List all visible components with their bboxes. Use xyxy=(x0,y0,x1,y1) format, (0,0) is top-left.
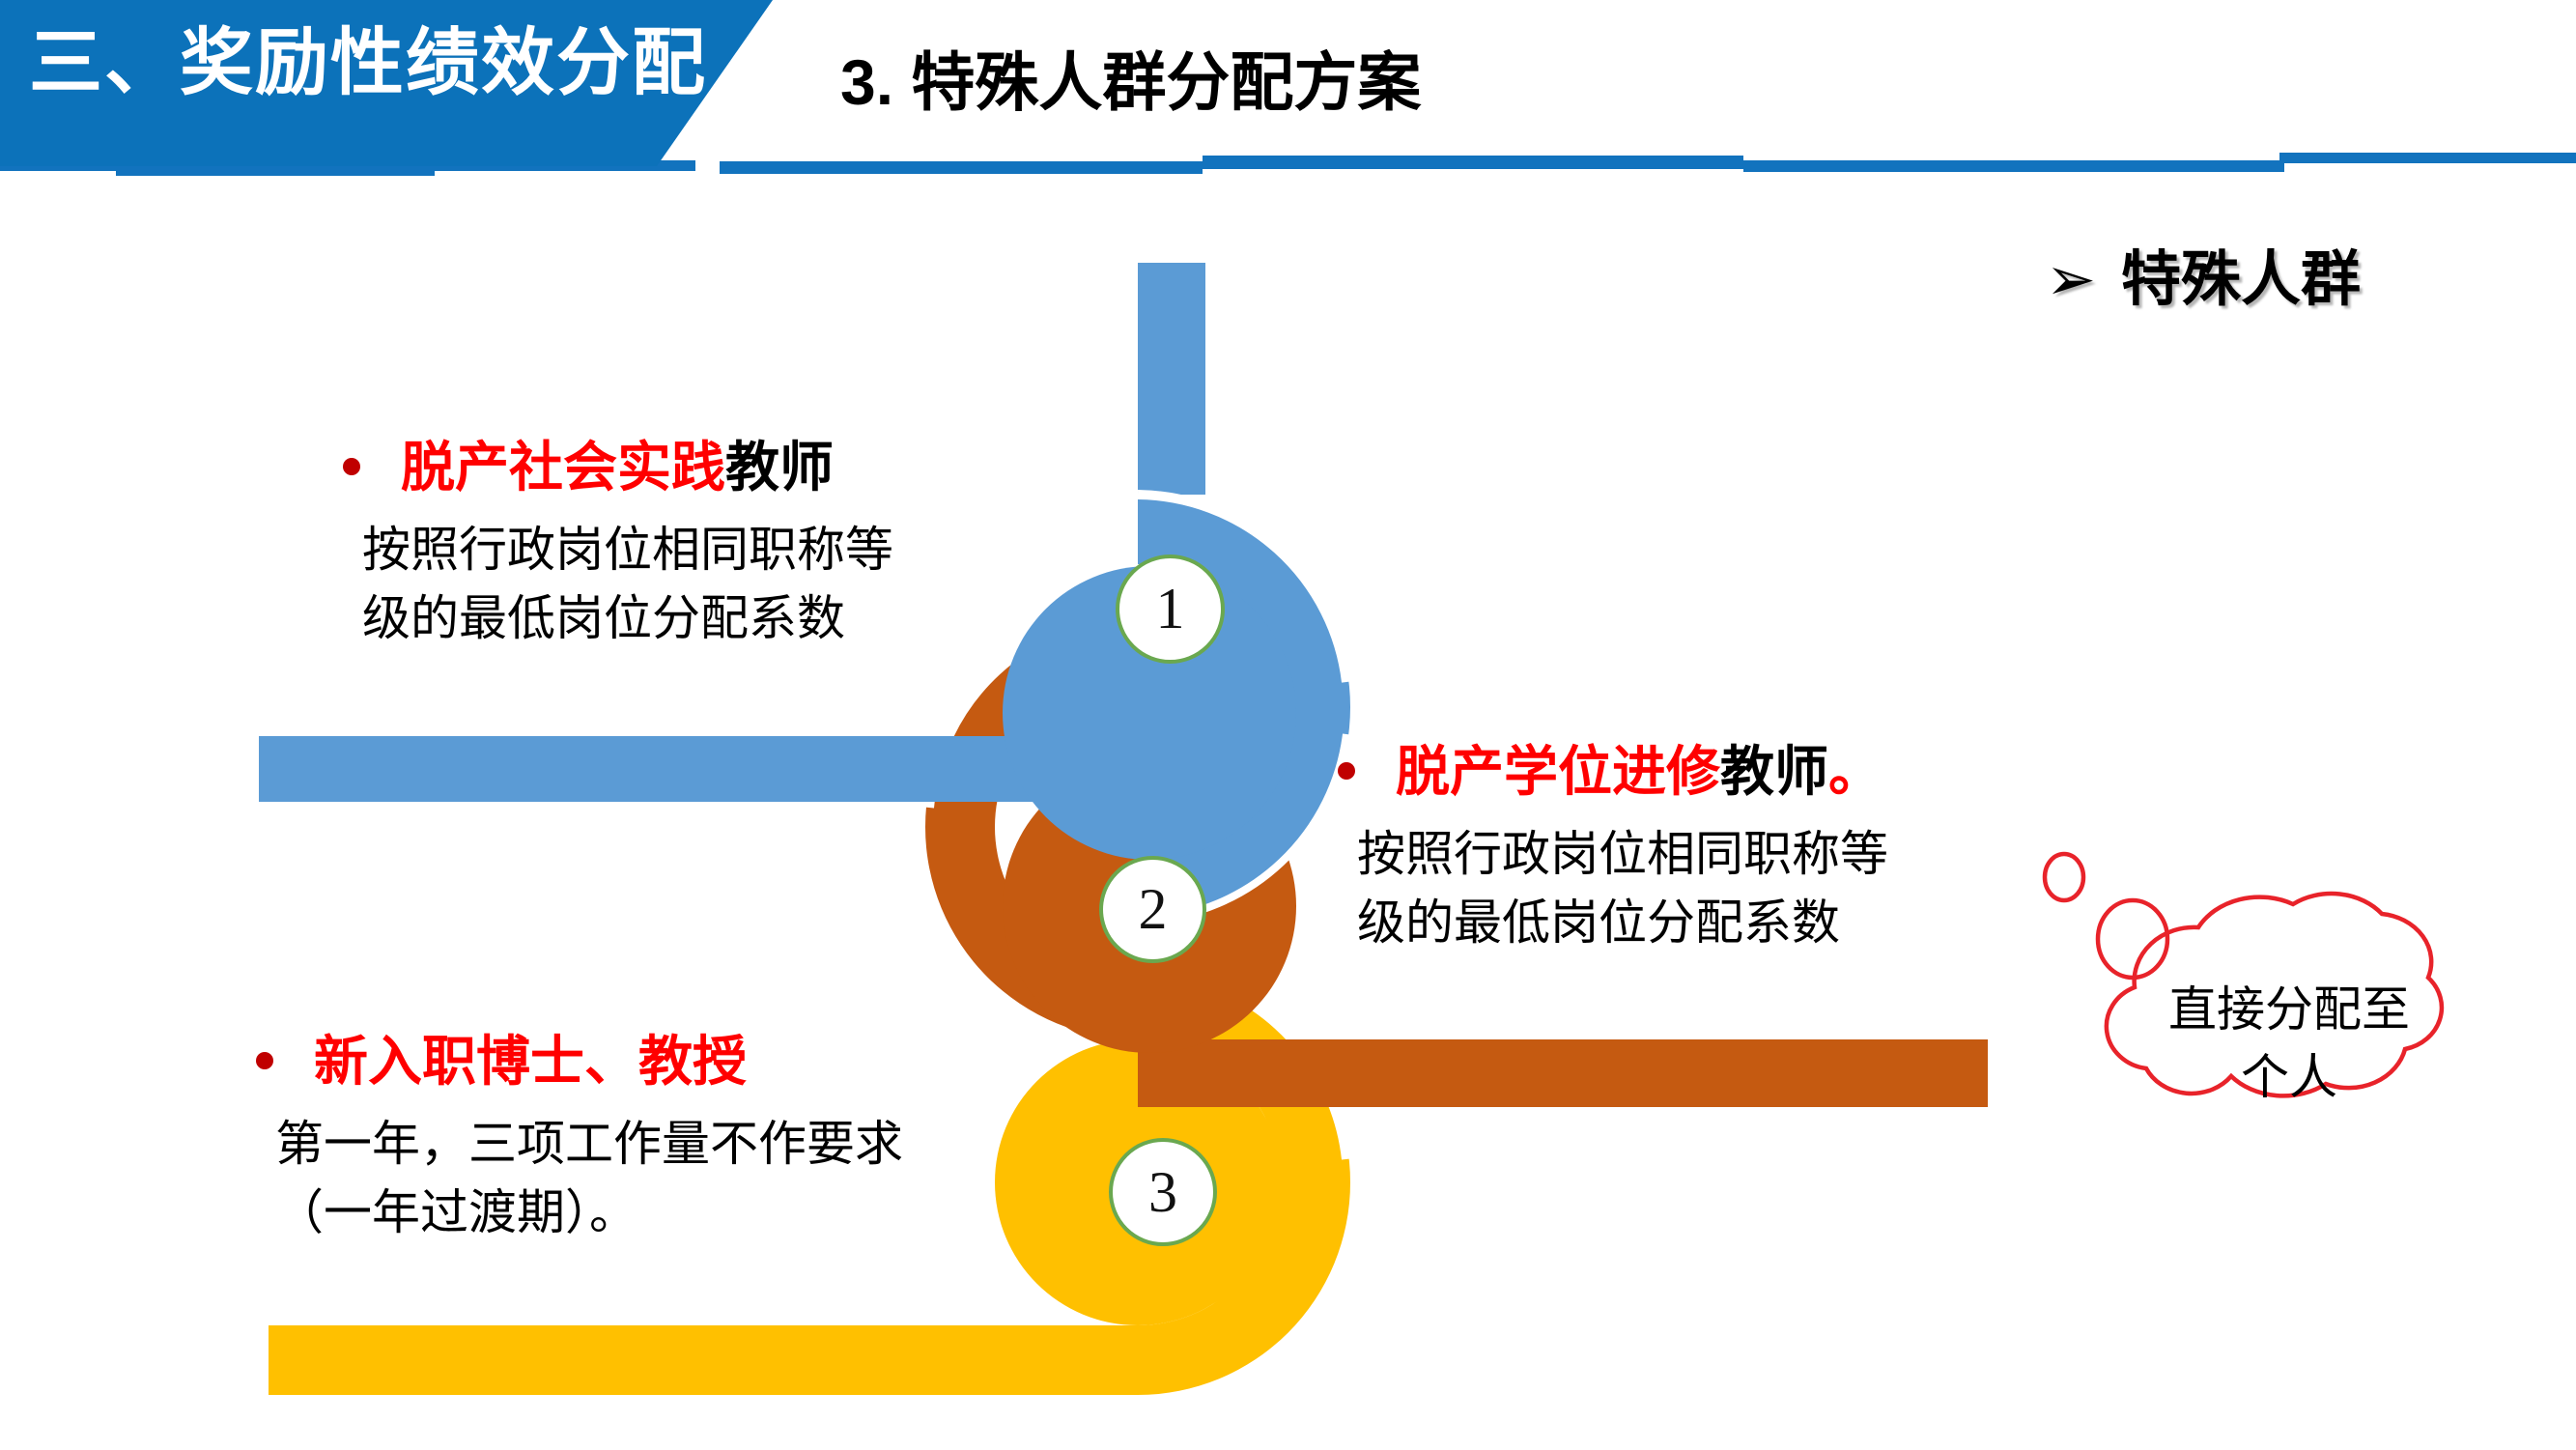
item-1-heading-red: 脱产社会实践 xyxy=(401,437,725,498)
header-rule-segment xyxy=(116,166,435,176)
spiral-number-3: 3 xyxy=(1109,1138,1217,1246)
item-2-body: 按照行政岗位相同职称等 级的最低岗位分配系数 xyxy=(1338,820,1888,957)
cloud-callout-text: 直接分配至 个人 xyxy=(2115,976,2463,1111)
bullet-dot-icon xyxy=(256,1052,273,1069)
item-1-body-line-1: 按照行政岗位相同职称等 xyxy=(362,516,893,584)
header-banner: 三、奖励性绩效分配 xyxy=(0,0,773,166)
header-rule-segment xyxy=(1203,156,1743,169)
item-3: 新入职博士、教授 第一年，三项工作量不作要求 （一年过渡期）。 xyxy=(256,1029,903,1247)
special-group-text: 特殊人群 xyxy=(2121,246,2361,313)
spiral-number-1: 1 xyxy=(1116,554,1225,664)
item-3-heading-red: 新入职博士、教授 xyxy=(314,1031,747,1092)
arrow-right-icon: ➢ xyxy=(2046,243,2096,314)
slide-canvas: 三、奖励性绩效分配 3. 特殊人群分配方案 xyxy=(0,0,2576,1450)
item-1-heading-black: 教师 xyxy=(725,437,834,498)
item-2-body-line-1: 按照行政岗位相同职称等 xyxy=(1357,820,1888,889)
bullet-dot-icon xyxy=(1338,762,1355,780)
item-2-heading: 脱产学位进修教师。 xyxy=(1338,739,1888,805)
item-2-body-line-2: 级的最低岗位分配系数 xyxy=(1357,889,1888,957)
item-2-heading-tail: 。 xyxy=(1828,741,1882,802)
item-3-heading: 新入职博士、教授 xyxy=(256,1029,903,1095)
cloud-callout-line-2: 个人 xyxy=(2115,1043,2463,1111)
item-2: 脱产学位进修教师。 按照行政岗位相同职称等 级的最低岗位分配系数 xyxy=(1338,739,1888,957)
header-rule-segment xyxy=(2279,153,2576,163)
item-1: 脱产社会实践教师 按照行政岗位相同职称等 级的最低岗位分配系数 xyxy=(343,435,893,653)
cloud-callout-line-1: 直接分配至 xyxy=(2115,976,2463,1043)
section-label: 三、奖励性绩效分配 xyxy=(29,17,705,109)
item-2-heading-black: 教师 xyxy=(1720,741,1828,802)
item-3-body-line-2: （一年过渡期）。 xyxy=(275,1179,903,1247)
header-rule-segment xyxy=(1743,160,2284,172)
bullet-dot-icon xyxy=(343,458,360,475)
page-title: 3. 特殊人群分配方案 xyxy=(840,31,1421,124)
item-1-body: 按照行政岗位相同职称等 级的最低岗位分配系数 xyxy=(343,516,893,653)
item-3-body: 第一年，三项工作量不作要求 （一年过渡期）。 xyxy=(256,1110,903,1247)
spiral-number-2: 2 xyxy=(1099,856,1206,963)
item-1-body-line-2: 级的最低岗位分配系数 xyxy=(362,584,893,653)
header-rule-segment xyxy=(720,161,1203,174)
item-2-heading-red: 脱产学位进修 xyxy=(1396,741,1720,802)
item-1-heading: 脱产社会实践教师 xyxy=(343,435,893,500)
item-3-body-line-1: 第一年，三项工作量不作要求 xyxy=(275,1110,903,1179)
special-group-label: ➢特殊人群 xyxy=(2046,230,2361,317)
